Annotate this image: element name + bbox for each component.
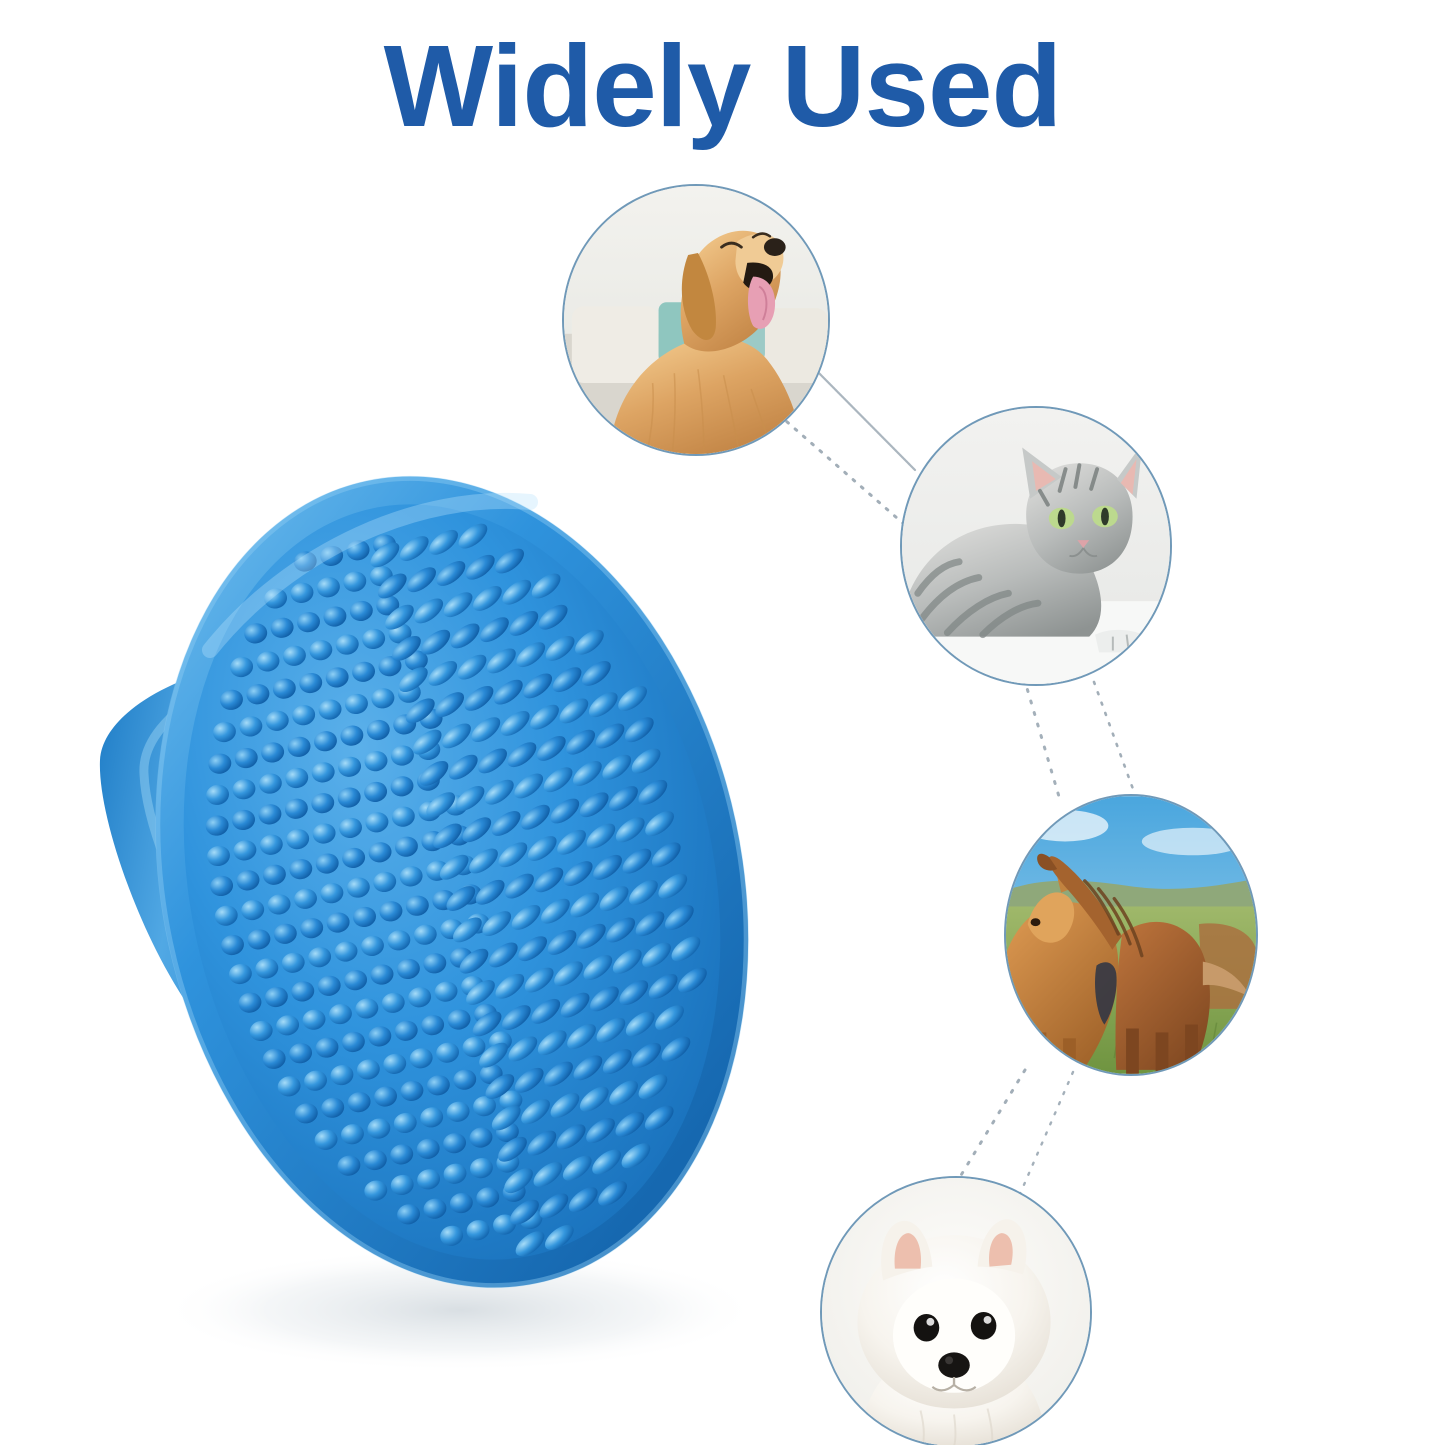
golden-retriever-photo [564, 186, 828, 454]
silver-tabby-cat-photo [902, 408, 1170, 684]
white-pomeranian-photo [822, 1178, 1090, 1445]
horses-photo [1006, 796, 1256, 1074]
usage-circle-cat[interactable] [900, 406, 1172, 686]
usage-circle-puppy[interactable] [820, 1176, 1092, 1445]
page-title: Widely Used [0, 26, 1445, 148]
product-brush [60, 430, 800, 1390]
brush-illustration [60, 430, 800, 1390]
product-feature-image: Widely Used [0, 0, 1445, 1445]
usage-circle-horse[interactable] [1004, 794, 1258, 1076]
usage-circle-dog[interactable] [562, 184, 830, 456]
